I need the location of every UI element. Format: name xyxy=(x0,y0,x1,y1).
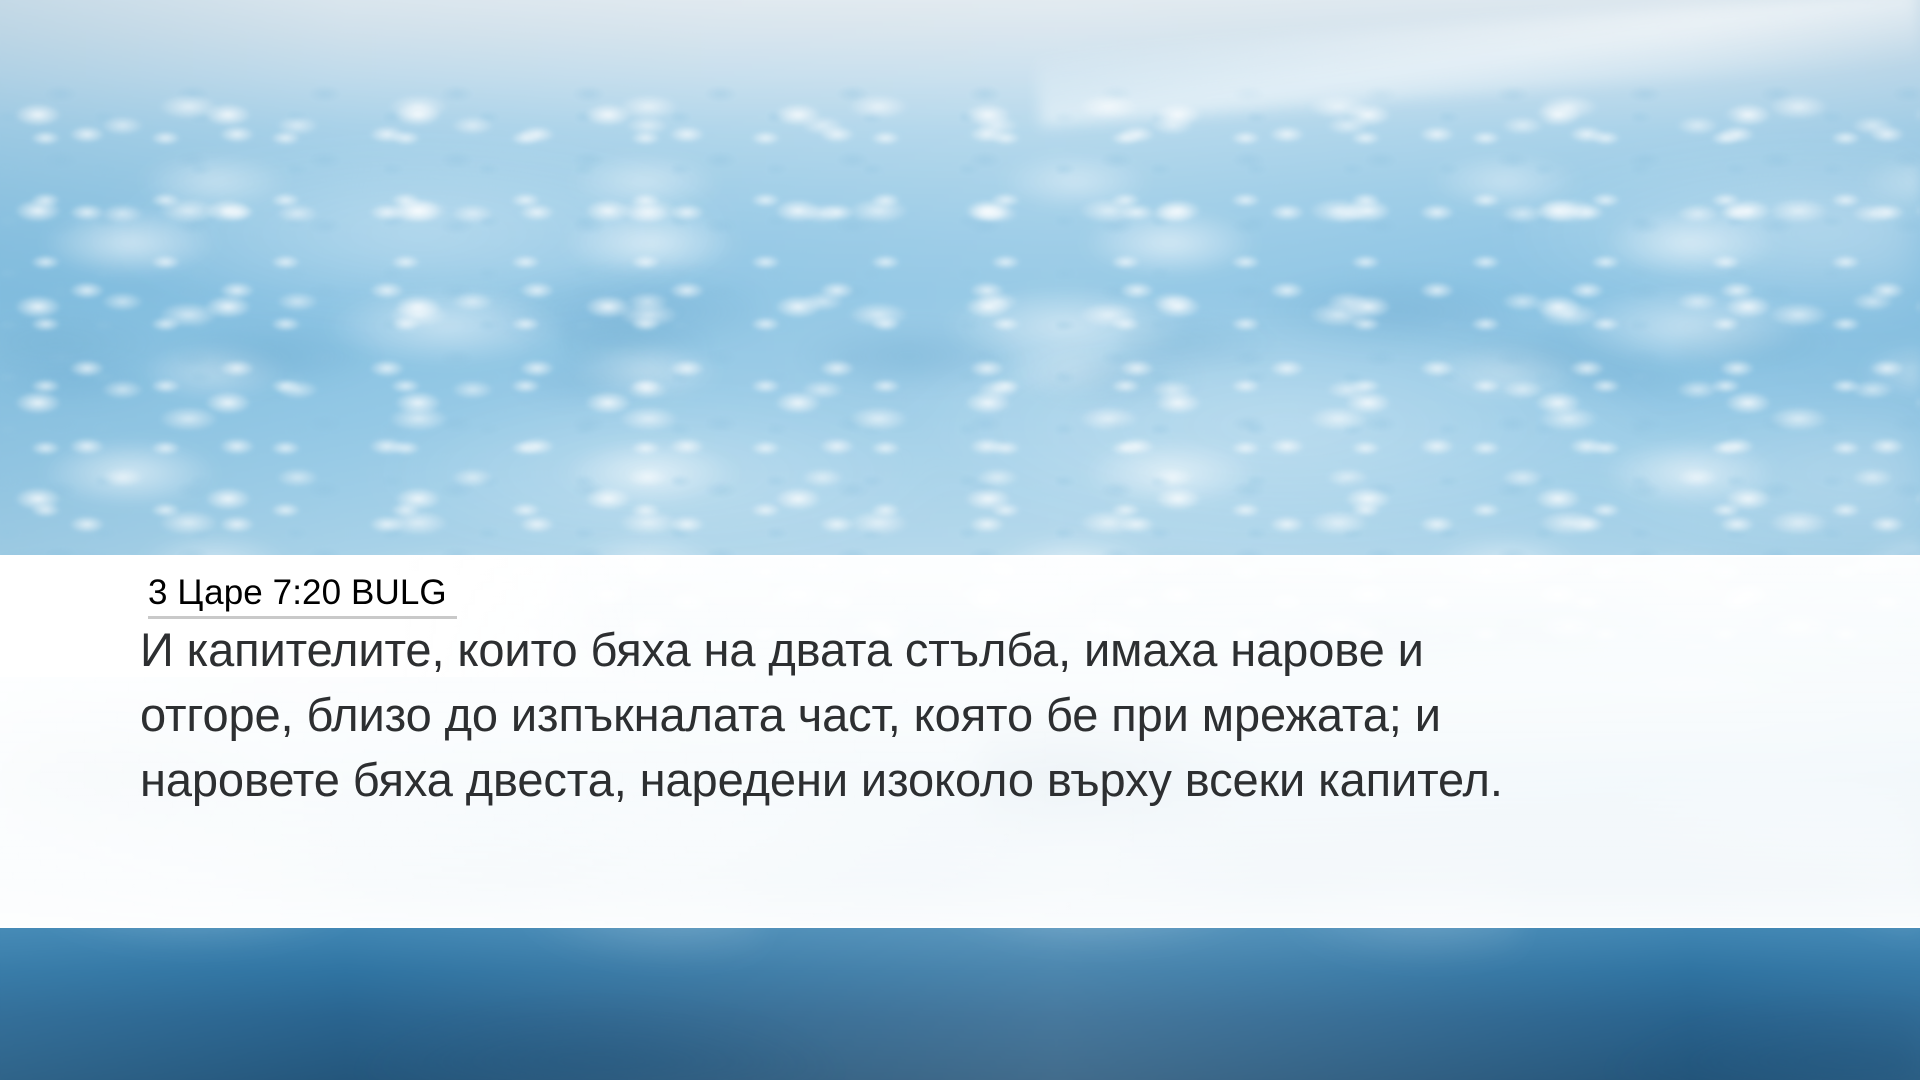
verse-content: 3 Царе 7:20 BULG И капителите, които бях… xyxy=(0,557,1920,926)
verse-line-3: наровете бяха двеста, наредени изоколо в… xyxy=(140,748,1880,813)
verse-line-2: отгоре, близо до изпъкналата част, която… xyxy=(140,683,1880,748)
verse-line-1: И капителите, които бяха на двата стълба… xyxy=(140,618,1880,683)
verse-reference-label: 3 Царе 7:20 BULG xyxy=(146,571,457,615)
verse-reference-badge: 3 Царе 7:20 BULG xyxy=(146,571,457,615)
verse-body-text: И капителите, които бяха на двата стълба… xyxy=(140,618,1880,813)
verse-image-canvas: 3 Царе 7:20 BULG И капителите, които бях… xyxy=(0,0,1920,1080)
verse-overlay-band: 3 Царе 7:20 BULG И капителите, които бях… xyxy=(0,555,1920,928)
verse-reference-underline xyxy=(148,616,457,619)
